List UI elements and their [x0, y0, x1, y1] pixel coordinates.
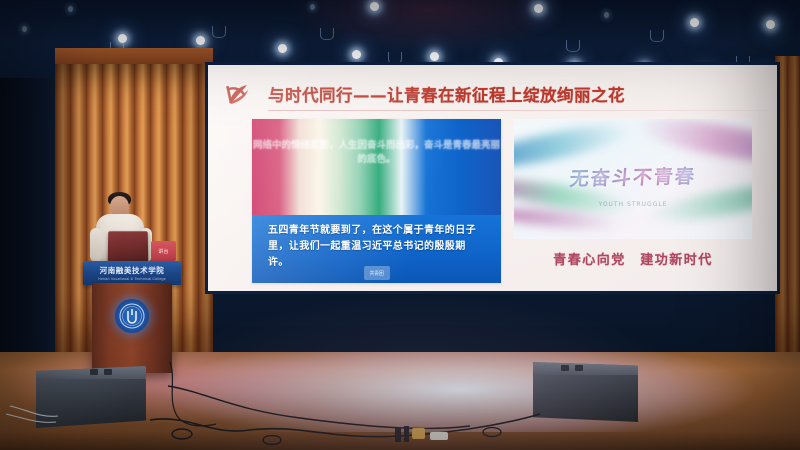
slide-right-panel: 无奋斗不青春 YOUTH STRUGGLE [514, 119, 752, 239]
spotlight-icon [430, 52, 439, 61]
spotlight-icon [196, 36, 205, 45]
banner-text: 网络中的情绪剪影，人生因奋斗而出彩，奋斗是青春最亮丽的底色。 [252, 139, 501, 167]
spotlight-icon [766, 20, 775, 29]
slide-blue-textbox: 五四青年节就要到了，在这个属于青年的日子里，让我们一起重温习近平总书记的殷殷期许… [252, 215, 501, 283]
podium-banner: 河南融美技术学院 Henan Vocational & Technical Co… [83, 261, 181, 285]
laptop-icon [108, 231, 149, 262]
artistic-calligraphy-text: 无奋斗不青春 [514, 161, 752, 193]
projection-screen: 与时代同行——让青春在新征程上绽放绚丽之花 网络中的情绪剪影，人生因奋斗而出彩，… [208, 65, 777, 291]
spotlight-dim-icon [68, 6, 73, 12]
podium-banner-cn: 河南融美技术学院 [100, 265, 165, 276]
hammer-and-sickle-icon [224, 81, 254, 107]
truss-icon [320, 28, 334, 40]
slide-left-panel: 网络中的情绪剪影，人生因奋斗而出彩，奋斗是青春最亮丽的底色。 五四青年节就要到了… [252, 119, 501, 283]
podium-nameplate: 讲台 [151, 241, 176, 261]
spotlight-icon [690, 18, 699, 27]
slide-slogan: 青春心向党 建功新时代 [514, 249, 752, 268]
color-band-graphic [252, 119, 501, 215]
slide-title: 与时代同行——让青春在新征程上绽放绚丽之花 [268, 82, 625, 106]
watermark-logo: 共青团 [364, 266, 390, 280]
presenter-arm-left [90, 228, 102, 262]
title-divider [268, 110, 768, 111]
stage-curtain-valance [55, 48, 213, 64]
artistic-subtext: YOUTH STRUGGLE [514, 201, 752, 208]
stage-left-dark-wall [0, 30, 58, 360]
spotlight-icon [534, 4, 543, 13]
spotlight-dim-icon [604, 12, 609, 18]
stage-scene: 与时代同行——让青春在新征程上绽放绚丽之花 网络中的情绪剪影，人生因奋斗而出彩，… [0, 0, 800, 450]
spotlight-icon [370, 2, 379, 11]
podium-banner-en: Henan Vocational & Technical College [98, 277, 166, 281]
slide-body-text: 五四青年节就要到了，在这个属于青年的日子里，让我们一起重温习近平总书记的殷殷期许… [268, 223, 486, 271]
university-seal-icon [115, 299, 149, 333]
truss-icon [566, 40, 580, 52]
spotlight-icon [278, 44, 287, 53]
spotlight-dim-icon [22, 26, 27, 32]
truss-icon [650, 30, 664, 42]
truss-icon [212, 26, 226, 38]
spotlight-dim-icon [310, 4, 315, 10]
spotlight-icon [352, 50, 361, 59]
slide-header: 与时代同行——让青春在新征程上绽放绚丽之花 [208, 75, 777, 113]
stage-cables [0, 340, 800, 450]
projection-screen-frame: 与时代同行——让青春在新征程上绽放绚丽之花 网络中的情绪剪影，人生因奋斗而出彩，… [205, 62, 780, 294]
